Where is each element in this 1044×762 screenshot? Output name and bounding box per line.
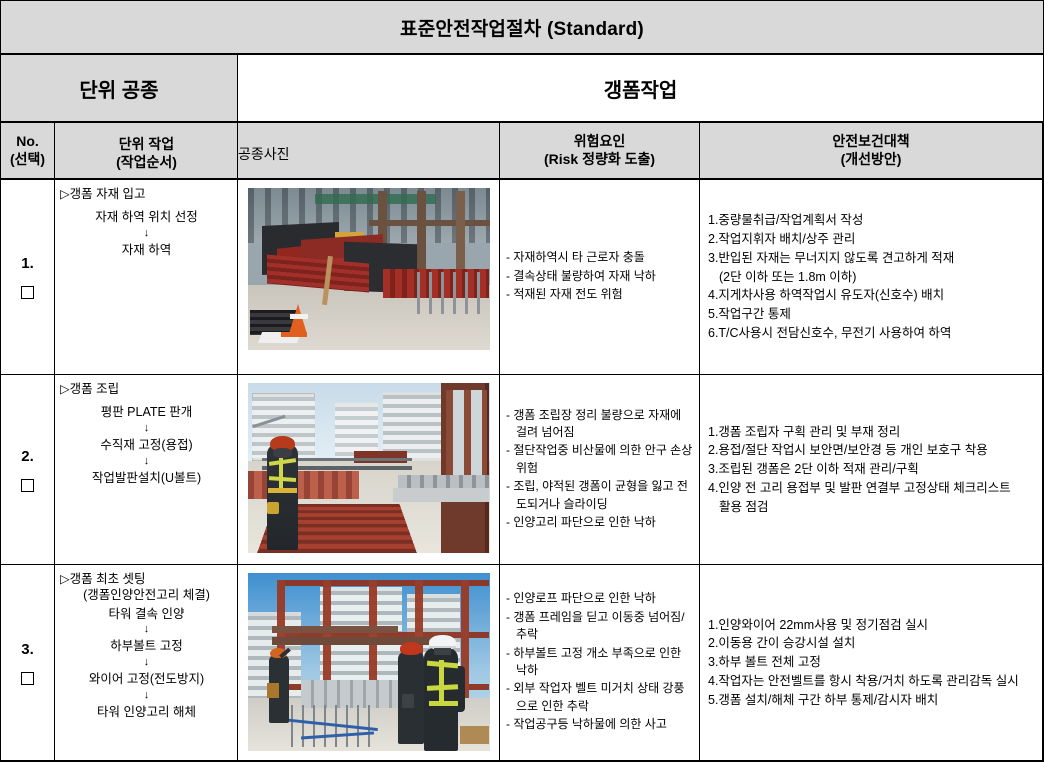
gangform-material-delivery-photo — [248, 188, 490, 350]
sequence-step-list: 타워 결속 인양 ↓ 하부볼트 고정 ↓ 와이어 고정(전도방지) ↓ 타워 인… — [60, 606, 233, 721]
sequence-step: 와이어 고정(전도방지) — [60, 671, 233, 688]
process-photo-cell — [238, 180, 500, 374]
risk-item: - 작업공구등 낙하물에 의한 사고 — [506, 716, 693, 733]
work-sequence-cell: ▷갱폼 최초 셋팅 (갱폼인양안전고리 체결) 타워 결속 인양 ↓ 하부볼트 … — [55, 565, 238, 760]
safety-measure-item-continued: 활용 점검 — [708, 498, 1034, 517]
risk-factor-cell: - 인양로프 파단으로 인한 낙하 - 갱폼 프레임을 딛고 이동중 넘어짐/추… — [500, 565, 700, 760]
safety-measure-cell: 1.인양와이어 22mm사용 및 정기점검 실시 2.이동용 간이 승강시설 설… — [700, 565, 1043, 760]
row-number-cell: 3. — [0, 565, 55, 760]
row-number-cell: 2. — [0, 375, 55, 564]
table-row: 1. ▷갱폼 자재 입고 자재 하역 위치 선정 ↓ 자재 하역 — [0, 180, 1043, 375]
safety-measure-item: 2.용접/절단 작업시 보안면/보안경 등 개인 보호구 착용 — [708, 441, 1034, 460]
sequence-step: 자재 하역 — [60, 242, 233, 259]
safety-measure-item: 4.인양 전 고리 용접부 및 발판 연결부 고정상태 체크리스트 — [708, 479, 1034, 498]
work-sequence-cell: ▷갱폼 자재 입고 자재 하역 위치 선정 ↓ 자재 하역 — [55, 180, 238, 374]
safety-measure-item: 3.반입된 자재는 무너지지 않도록 견고하게 적재 — [708, 249, 1034, 268]
safety-measure-cell: 1.갱폼 조립자 구획 관리 및 부재 정리 2.용접/절단 작업시 보안면/보… — [700, 375, 1043, 564]
risk-factor-cell: - 갱폼 조립장 정리 불량으로 자재에 걸려 넘어짐 - 절단작업중 비산물에… — [500, 375, 700, 564]
row-number: 2. — [21, 448, 34, 465]
risk-list: - 인양로프 파단으로 인한 낙하 - 갱폼 프레임을 딛고 이동중 넘어짐/추… — [506, 590, 693, 734]
down-arrow-icon: ↓ — [60, 622, 233, 638]
down-arrow-icon: ↓ — [60, 688, 233, 704]
sequence-step: 타워 결속 인양 — [60, 606, 233, 623]
safety-measure-item: 2.작업지휘자 배치/상주 관리 — [708, 230, 1034, 249]
safety-measure-item: 1.중량물취급/작업계획서 작성 — [708, 211, 1034, 230]
table-row: 3. ▷갱폼 최초 셋팅 (갱폼인양안전고리 체결) 타워 결속 인양 ↓ 하부… — [0, 565, 1043, 762]
column-header-risk-line1: 위험요인 — [574, 133, 626, 151]
safety-measure-item: 5.작업구간 통제 — [708, 305, 1034, 324]
risk-item: - 갱폼 조립장 정리 불량으로 자재에 걸려 넘어짐 — [506, 407, 693, 442]
standard-safety-procedure-sheet: 표준안전작업절차 (Standard) 단위 공종 갱폼작업 No. (선택) … — [0, 0, 1044, 762]
risk-item: - 결속상태 불량하여 자재 낙하 — [506, 268, 693, 285]
safety-measure-item: 1.인양와이어 22mm사용 및 정기점검 실시 — [708, 616, 1034, 635]
process-photo-cell — [238, 565, 500, 760]
sequence-step: 타워 인양고리 해체 — [60, 704, 233, 721]
safety-measure-list: 1.갱폼 조립자 구획 관리 및 부재 정리 2.용접/절단 작업시 보안면/보… — [708, 423, 1034, 517]
row-number: 3. — [21, 641, 34, 658]
document-title-bar: 표준안전작업절차 (Standard) — [0, 0, 1043, 55]
safety-measure-cell: 1.중량물취급/작업계획서 작성 2.작업지휘자 배치/상주 관리 3.반입된 … — [700, 180, 1043, 374]
row-number-cell: 1. — [0, 180, 55, 374]
sequence-step: 하부볼트 고정 — [60, 638, 233, 655]
sequence-step: 작업발판설치(U볼트) — [60, 470, 233, 487]
safety-measure-item: 2.이동용 간이 승강시설 설치 — [708, 634, 1034, 653]
risk-item: - 하부볼트 고정 개소 부족으로 인한 낙하 — [506, 645, 693, 680]
risk-list: - 자재하역시 타 근로자 충돌 - 결속상태 불량하여 자재 낙하 - 적재된… — [506, 249, 693, 304]
gangform-initial-setting-photo — [248, 573, 490, 751]
safety-measure-item: 6.T/C사용시 전담신호수, 무전기 사용하여 하역 — [708, 324, 1034, 343]
sequence-title: ▷갱폼 자재 입고 — [60, 186, 233, 202]
unit-process-header-cell: 단위 공종 — [0, 55, 238, 121]
safety-measure-list: 1.인양와이어 22mm사용 및 정기점검 실시 2.이동용 간이 승강시설 설… — [708, 616, 1034, 710]
table-row: 2. ▷갱폼 조립 평판 PLATE 판개 ↓ 수직재 고정(용접) ↓ 작업발… — [0, 375, 1043, 565]
column-header-no-line2: (선택) — [10, 151, 45, 169]
risk-item: - 외부 작업자 벨트 미거치 상태 강풍으로 인한 추락 — [506, 680, 693, 715]
sequence-step-list: 자재 하역 위치 선정 ↓ 자재 하역 — [60, 209, 233, 259]
down-arrow-icon: ↓ — [60, 454, 233, 470]
risk-item: - 적재된 자재 전도 위험 — [506, 286, 693, 303]
risk-list: - 갱폼 조립장 정리 불량으로 자재에 걸려 넘어짐 - 절단작업중 비산물에… — [506, 407, 693, 533]
risk-item: - 조립, 야적된 갱폼이 균형을 잃고 전도되거나 슬라이딩 — [506, 478, 693, 513]
unit-process-label: 단위 공종 — [79, 74, 158, 103]
row-select-checkbox[interactable] — [21, 286, 34, 299]
column-header-no-line1: No. — [16, 133, 39, 151]
sequence-step: 자재 하역 위치 선정 — [60, 209, 233, 226]
sequence-subtitle: (갱폼인양안전고리 체결) — [60, 587, 233, 603]
procedure-rows: 1. ▷갱폼 자재 입고 자재 하역 위치 선정 ↓ 자재 하역 — [0, 180, 1043, 762]
gangform-assembly-photo — [248, 383, 490, 553]
safety-measure-item: 3.조립된 갱폼은 2단 이하 적재 관리/구획 — [708, 460, 1034, 479]
safety-measure-item: 5.갱폼 설치/해체 구간 하부 통제/감시자 배치 — [708, 691, 1034, 710]
down-arrow-icon: ↓ — [60, 655, 233, 671]
safety-measure-item: 3.하부 볼트 전체 고정 — [708, 653, 1034, 672]
column-header-unit-task-line2: (작업순서) — [116, 154, 177, 172]
risk-item: - 인양고리 파단으로 인한 낙하 — [506, 514, 693, 531]
safety-measure-item-continued: (2단 이하 또는 1.8m 이하) — [708, 268, 1034, 287]
safety-measure-item: 4.작업자는 안전벨트를 항시 착용/거치 하도록 관리감독 실시 — [708, 672, 1034, 691]
column-header-safety-line2: (개선방안) — [841, 151, 902, 169]
column-header-risk: 위험요인 (Risk 정량화 도출) — [500, 123, 700, 178]
sequence-step: 수직재 고정(용접) — [60, 437, 233, 454]
process-photo-cell — [238, 375, 500, 564]
sequence-step: 평판 PLATE 판개 — [60, 404, 233, 421]
row-select-checkbox[interactable] — [21, 672, 34, 685]
risk-item: - 갱폼 프레임을 딛고 이동중 넘어짐/추락 — [506, 609, 693, 644]
sequence-step-list: 평판 PLATE 판개 ↓ 수직재 고정(용접) ↓ 작업발판설치(U볼트) — [60, 404, 233, 487]
column-header-safety-line1: 안전보건대책 — [832, 133, 909, 151]
column-header-row: No. (선택) 단위 작업 (작업순서) 공종사진 위험요인 (Risk 정량… — [0, 123, 1043, 180]
column-header-photo-line1: 공종사진 — [238, 146, 290, 164]
risk-item: - 자재하역시 타 근로자 충돌 — [506, 249, 693, 266]
column-header-unit-task-line1: 단위 작업 — [119, 136, 174, 154]
work-name-cell: 갱폼작업 — [238, 55, 1043, 121]
column-header-no: No. (선택) — [0, 123, 55, 178]
group-header-row: 단위 공종 갱폼작업 — [0, 55, 1043, 123]
column-header-risk-line2: (Risk 정량화 도출) — [544, 151, 655, 169]
safety-measure-list: 1.중량물취급/작업계획서 작성 2.작업지휘자 배치/상주 관리 3.반입된 … — [708, 211, 1034, 342]
work-sequence-cell: ▷갱폼 조립 평판 PLATE 판개 ↓ 수직재 고정(용접) ↓ 작업발판설치… — [55, 375, 238, 564]
safety-measure-item: 4.지게차사용 하역작업시 유도자(신호수) 배치 — [708, 286, 1034, 305]
safety-measure-item: 1.갱폼 조립자 구획 관리 및 부재 정리 — [708, 423, 1034, 442]
column-header-safety: 안전보건대책 (개선방안) — [700, 123, 1043, 178]
down-arrow-icon: ↓ — [60, 226, 233, 242]
sequence-title: ▷갱폼 최초 셋팅 — [60, 571, 233, 587]
page-title: 표준안전작업절차 (Standard) — [400, 14, 644, 41]
work-name-value: 갱폼작업 — [604, 74, 678, 103]
risk-item: - 절단작업중 비산물에 의한 안구 손상 위험 — [506, 442, 693, 477]
row-number: 1. — [21, 255, 34, 272]
column-header-photo: 공종사진 — [238, 123, 500, 178]
risk-item: - 인양로프 파단으로 인한 낙하 — [506, 590, 693, 607]
risk-factor-cell: - 자재하역시 타 근로자 충돌 - 결속상태 불량하여 자재 낙하 - 적재된… — [500, 180, 700, 374]
row-select-checkbox[interactable] — [21, 479, 34, 492]
down-arrow-icon: ↓ — [60, 421, 233, 437]
sequence-title: ▷갱폼 조립 — [60, 381, 233, 397]
column-header-unit-task: 단위 작업 (작업순서) — [55, 123, 238, 178]
